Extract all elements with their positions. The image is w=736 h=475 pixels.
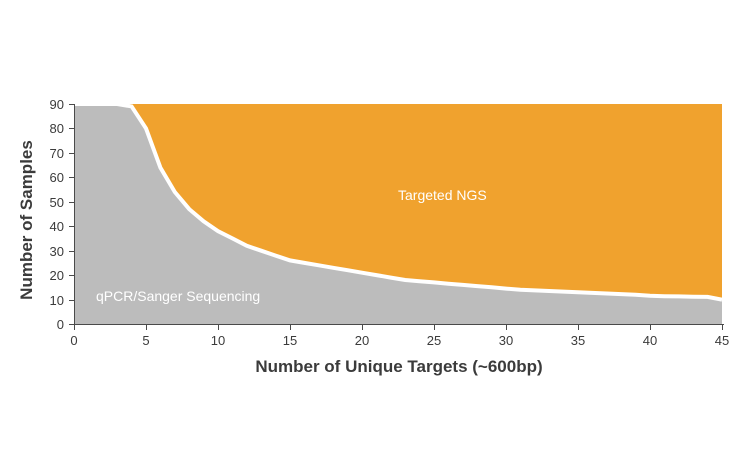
x-tick-9 (722, 325, 723, 330)
x-tick-label-1: 5 (126, 333, 166, 348)
x-tick-label-7: 35 (558, 333, 598, 348)
y-tick-label-8: 80 (34, 121, 64, 136)
x-tick-label-4: 20 (342, 333, 382, 348)
x-tick-3 (290, 325, 291, 330)
x-tick-7 (578, 325, 579, 330)
y-tick-3 (69, 251, 74, 252)
chart-container: Targeted NGS qPCR/Sanger Sequencing 0 5 … (0, 0, 736, 475)
y-tick-8 (69, 128, 74, 129)
x-tick-label-5: 25 (414, 333, 454, 348)
y-tick-7 (69, 153, 74, 154)
y-tick-label-9: 90 (34, 97, 64, 112)
x-tick-6 (506, 325, 507, 330)
x-tick-label-0: 0 (54, 333, 94, 348)
x-tick-label-6: 30 (486, 333, 526, 348)
y-tick-label-5: 50 (34, 195, 64, 210)
x-tick-1 (146, 325, 147, 330)
series-label-targeted-ngs: Targeted NGS (398, 187, 487, 203)
x-tick-0 (74, 325, 75, 330)
y-tick-2 (69, 275, 74, 276)
y-tick-0 (69, 324, 74, 325)
x-tick-2 (218, 325, 219, 330)
y-tick-label-1: 10 (34, 293, 64, 308)
y-axis-title: Number of Samples (17, 110, 37, 330)
y-tick-9 (69, 104, 74, 105)
x-tick-label-9: 45 (702, 333, 736, 348)
y-tick-1 (69, 300, 74, 301)
y-tick-label-0: 0 (34, 317, 64, 332)
y-tick-label-2: 20 (34, 268, 64, 283)
y-tick-label-3: 30 (34, 244, 64, 259)
x-tick-8 (650, 325, 651, 330)
x-axis-line (74, 324, 724, 325)
x-tick-label-8: 40 (630, 333, 670, 348)
y-tick-5 (69, 202, 74, 203)
x-tick-label-2: 10 (198, 333, 238, 348)
series-label-qpcr-sanger: qPCR/Sanger Sequencing (96, 288, 260, 304)
x-axis-title: Number of Unique Targets (~600bp) (74, 357, 724, 377)
y-tick-6 (69, 177, 74, 178)
y-tick-label-7: 70 (34, 146, 64, 161)
x-tick-5 (434, 325, 435, 330)
y-tick-label-6: 60 (34, 170, 64, 185)
x-tick-4 (362, 325, 363, 330)
y-tick-4 (69, 226, 74, 227)
x-tick-label-3: 15 (270, 333, 310, 348)
y-axis-line (74, 104, 75, 325)
y-tick-label-4: 40 (34, 219, 64, 234)
